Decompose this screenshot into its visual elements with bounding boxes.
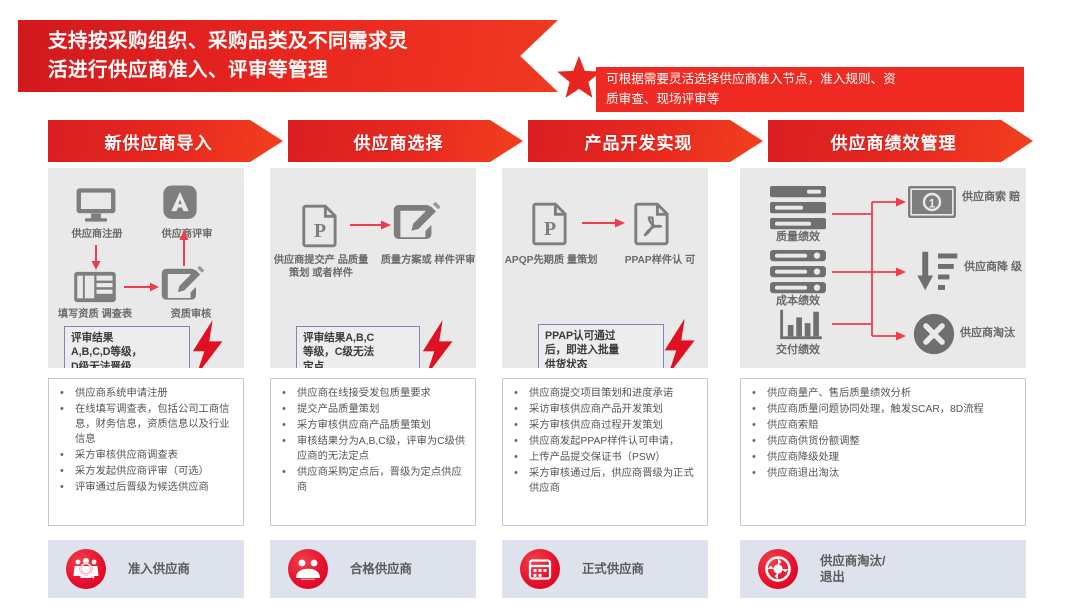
bullet-list-2: 供应商提交项目策划和进度承诺 采访审核供应商产品开发策划 采方审核供应商过程开发… <box>502 378 708 526</box>
form-icon <box>72 270 118 309</box>
list-item: 供应商发起PPAP样件认可申请， <box>507 435 701 450</box>
list-item: 供应商提交项目策划和进度承诺 <box>507 387 701 402</box>
list-item: 评审通过后晋级为候选供应商 <box>53 481 237 496</box>
outcome-label-2: 正式供应商 <box>582 561 644 577</box>
list-item: 供应商量产、售后质量绩效分析 <box>745 387 1019 402</box>
diagram-panel-3: 质量绩效 成本绩效 交付绩效 <box>740 168 1026 368</box>
list-item: 供应商索赔 <box>745 419 1019 434</box>
banknote-icon: 1 <box>908 186 956 223</box>
icon-caption-2-1: PPAP样件认 可 <box>612 254 708 267</box>
outcome-card-0[interactable]: 准入供应商 <box>48 540 244 598</box>
list-item: 采方审核供应商产品质量策划 <box>275 419 469 434</box>
arrow-up-icon <box>178 230 190 271</box>
sort-down-icon <box>916 250 960 297</box>
list-item: 上传产品提交保证书（PSW） <box>507 451 701 466</box>
icon-caption-3-0: 质量绩效 <box>756 230 840 245</box>
list-item: 采方审核供应商调查表 <box>53 449 237 464</box>
arrow-right-icon <box>350 218 392 236</box>
column-product-development: P APQP先期质 量策划 PPAP样件认 可 PPAP认可通过 后，即进入批量… <box>502 168 708 526</box>
header-note-banner: 可根据需要灵活选择供应商准入节点，准入规则、资 质审查、现场评审等 <box>596 67 1024 112</box>
arrow-right-icon <box>124 280 160 298</box>
header-banner: 支持按采购组织、采购品类及不同需求灵 活进行供应商准入、评审等管理 可根据需要灵… <box>0 20 1080 112</box>
stage-label-0: 新供应商导入 <box>105 129 227 154</box>
diagram-panel-1: P 供应商提交产 品质量策划 或者样件 质量方案或 样件评审 评审结果A,B,C… <box>270 168 476 368</box>
list-item: 供应商质量问题协同处理，触发SCAR，8D流程 <box>745 403 1019 418</box>
stage-label-2: 产品开发实现 <box>585 129 707 154</box>
svg-text:P: P <box>314 220 326 242</box>
column-new-supplier-onboarding: 供应商注册 供应商评审 填写资质 调查表 <box>48 168 244 526</box>
bullet-list-3: 供应商量产、售后质量绩效分析 供应商质量问题协同处理，触发SCAR，8D流程 供… <box>740 378 1026 526</box>
database-icon <box>770 250 826 299</box>
pdf-file-icon <box>634 202 670 251</box>
ppt-file-icon: P <box>302 204 338 253</box>
icon-caption-0-2: 填写资质 调查表 <box>50 308 140 321</box>
list-item: 提交产品质量策划 <box>275 403 469 418</box>
svg-text:1: 1 <box>929 196 936 210</box>
arrow-right-icon <box>582 216 626 234</box>
icon-caption-1-0: 供应商提交产 品质量策划 或者样件 <box>270 254 372 281</box>
list-item: 供应商系统申请注册 <box>53 387 237 402</box>
header-note-text: 可根据需要灵活选择供应商准入节点，准入规则、资 质审查、现场评审等 <box>596 70 906 109</box>
list-item: 采方发起供应商评审（可选） <box>53 465 237 480</box>
stage-label-1: 供应商选择 <box>354 129 458 154</box>
list-item: 采方审核通过后，供应商晋级为正式供应商 <box>507 467 701 497</box>
list-item: 在线填写调查表，包括公司工商信息，财务信息，资质信息以及行业信息 <box>53 403 237 448</box>
bullet-list-1: 供应商在线接受发包质量要求 提交产品质量策划 采方审核供应商产品质量策划 审核结… <box>270 378 476 526</box>
icon-caption-3-2: 交付绩效 <box>756 343 840 358</box>
stage-chevron-3[interactable]: 供应商绩效管理 <box>768 120 1033 162</box>
list-item: 供应商供货份额调整 <box>745 435 1019 450</box>
people-search-icon <box>66 549 106 589</box>
list-item: 供应商降级处理 <box>745 451 1019 466</box>
stage-chevron-bar: 新供应商导入 供应商选择 产品开发实现 供应商绩效管理 <box>48 120 1033 162</box>
svg-text:P: P <box>544 218 556 240</box>
callout-box-1: 评审结果A,B,C 等级，C级无法 定点 <box>296 326 420 368</box>
lightning-bolt-icon <box>416 320 456 368</box>
icon-caption-2-0: APQP先期质 量策划 <box>502 254 600 267</box>
list-item: 供应商采购定点后，晋级为定点供应商 <box>275 466 469 496</box>
outcome-label-0: 准入供应商 <box>128 561 190 577</box>
icon-caption-3-5: 供应商淘汰 <box>960 326 1026 341</box>
column-supplier-performance: 质量绩效 成本绩效 交付绩效 <box>740 168 1026 526</box>
outcome-card-1[interactable]: 合格供应商 <box>270 540 476 598</box>
bar-chart-icon <box>778 308 824 347</box>
icon-caption-0-0: 供应商注册 <box>54 228 140 241</box>
edit-note-icon <box>160 266 204 311</box>
list-item: 采方审核供应商过程开发策划 <box>507 419 701 434</box>
callout-box-2: PPAP认可通过 后，即进入批量 供货状态 <box>538 324 664 368</box>
icon-caption-3-1: 成本绩效 <box>756 294 840 309</box>
column-supplier-selection: P 供应商提交产 品质量策划 或者样件 质量方案或 样件评审 评审结果A,B,C… <box>270 168 476 526</box>
calendar-icon <box>520 549 560 589</box>
monitor-icon <box>72 184 120 231</box>
recycle-target-icon <box>758 549 798 589</box>
badge-a-icon <box>160 182 200 229</box>
outcome-label-1: 合格供应商 <box>350 561 412 577</box>
diagram-panel-0: 供应商注册 供应商评审 填写资质 调查表 <box>48 168 244 368</box>
edit-note-icon <box>392 202 440 251</box>
ppt-file-icon: P <box>532 202 568 251</box>
outcome-card-3[interactable]: 供应商淘汰/ 退出 <box>740 540 1026 598</box>
page-title: 支持按采购组织、采购品类及不同需求灵 活进行供应商准入、评审等管理 <box>18 27 408 86</box>
stage-label-3: 供应商绩效管理 <box>831 129 971 154</box>
icon-caption-3-4: 供应商降 级 <box>964 260 1026 275</box>
server-rack-icon <box>770 186 826 235</box>
stage-chevron-1[interactable]: 供应商选择 <box>288 120 523 162</box>
list-item: 采访审核供应商产品开发策划 <box>507 403 701 418</box>
lightning-bolt-icon <box>186 320 226 368</box>
group-people-icon <box>288 549 328 589</box>
x-circle-icon <box>912 312 956 361</box>
diagram-panel-2: P APQP先期质 量策划 PPAP样件认 可 PPAP认可通过 后，即进入批量… <box>502 168 708 368</box>
bullet-list-0: 供应商系统申请注册 在线填写调查表，包括公司工商信息，财务信息，资质信息以及行业… <box>48 378 244 526</box>
icon-caption-3-3: 供应商索 赔 <box>962 190 1024 205</box>
list-item: 审核结果分为A,B,C级，评审为C级供应商的无法定点 <box>275 435 469 465</box>
outcome-label-3: 供应商淘汰/ 退出 <box>820 553 885 585</box>
list-item: 供应商在线接受发包质量要求 <box>275 387 469 402</box>
stage-chevron-2[interactable]: 产品开发实现 <box>528 120 763 162</box>
callout-box-0: 评审结果 A,B,C,D等级， D级无法晋级 <box>64 326 190 368</box>
icon-caption-1-1: 质量方案或 样件评审 <box>380 254 476 267</box>
outcome-card-2[interactable]: 正式供应商 <box>502 540 708 598</box>
stage-chevron-0[interactable]: 新供应商导入 <box>48 120 283 162</box>
header-title-banner: 支持按采购组织、采购品类及不同需求灵 活进行供应商准入、评审等管理 <box>18 20 558 92</box>
lightning-bolt-icon <box>658 318 698 368</box>
list-item: 供应商退出淘汰 <box>745 467 1019 482</box>
